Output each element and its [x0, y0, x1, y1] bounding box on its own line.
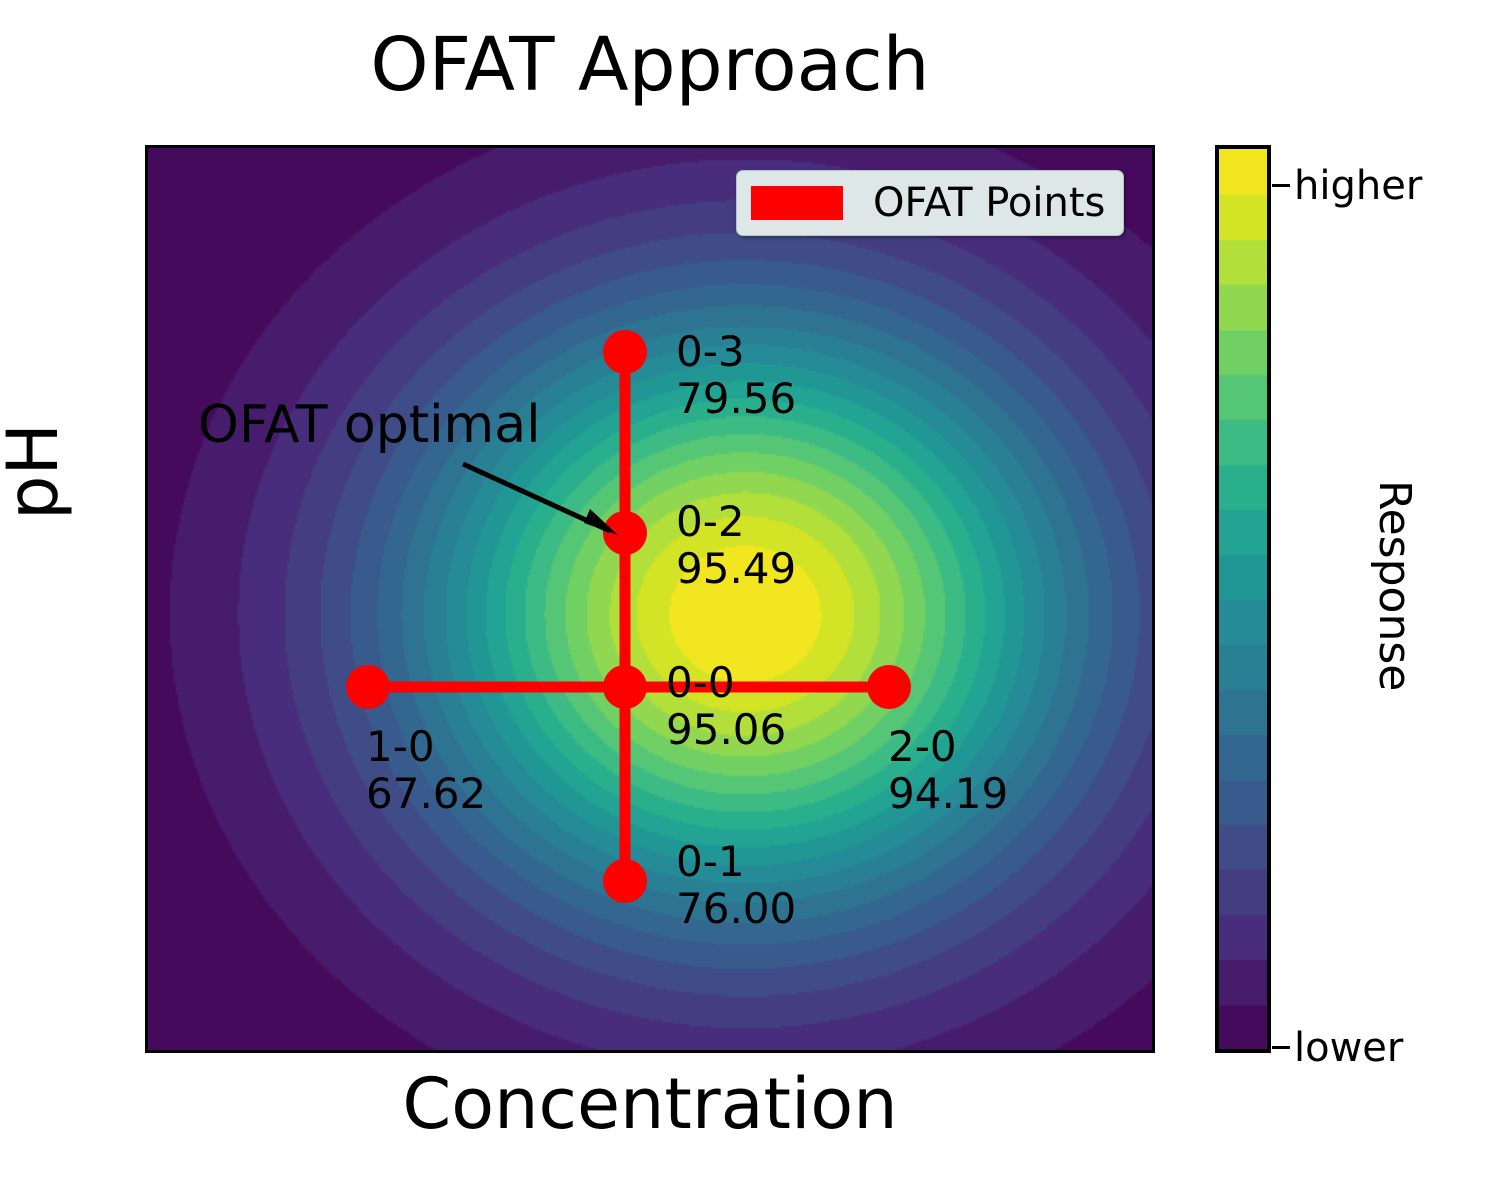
colorbar-tick-high: [1272, 184, 1290, 187]
ofat-optimal-annotation: OFAT optimal: [198, 395, 541, 455]
x-axis-label: Concentration: [145, 1063, 1155, 1145]
legend: OFAT Points: [736, 170, 1124, 236]
contour-plot-area: OFAT optimal 0-3 79.56 0-2 95.49 0-0 95.…: [145, 145, 1155, 1053]
contour-surface: [148, 148, 1152, 1050]
colorbar: [1215, 145, 1271, 1053]
y-axis-label: pH: [0, 423, 74, 520]
legend-label-ofat-points: OFAT Points: [873, 180, 1105, 226]
colorbar-ticklabel-low: lower: [1294, 1025, 1403, 1071]
colorbar-tick-low: [1272, 1046, 1290, 1049]
legend-swatch-ofat-points: [751, 186, 843, 220]
colorbar-ticklabel-high: higher: [1294, 163, 1422, 209]
chart-title: OFAT Approach: [145, 28, 1155, 102]
colorbar-label: Response: [1369, 480, 1420, 691]
